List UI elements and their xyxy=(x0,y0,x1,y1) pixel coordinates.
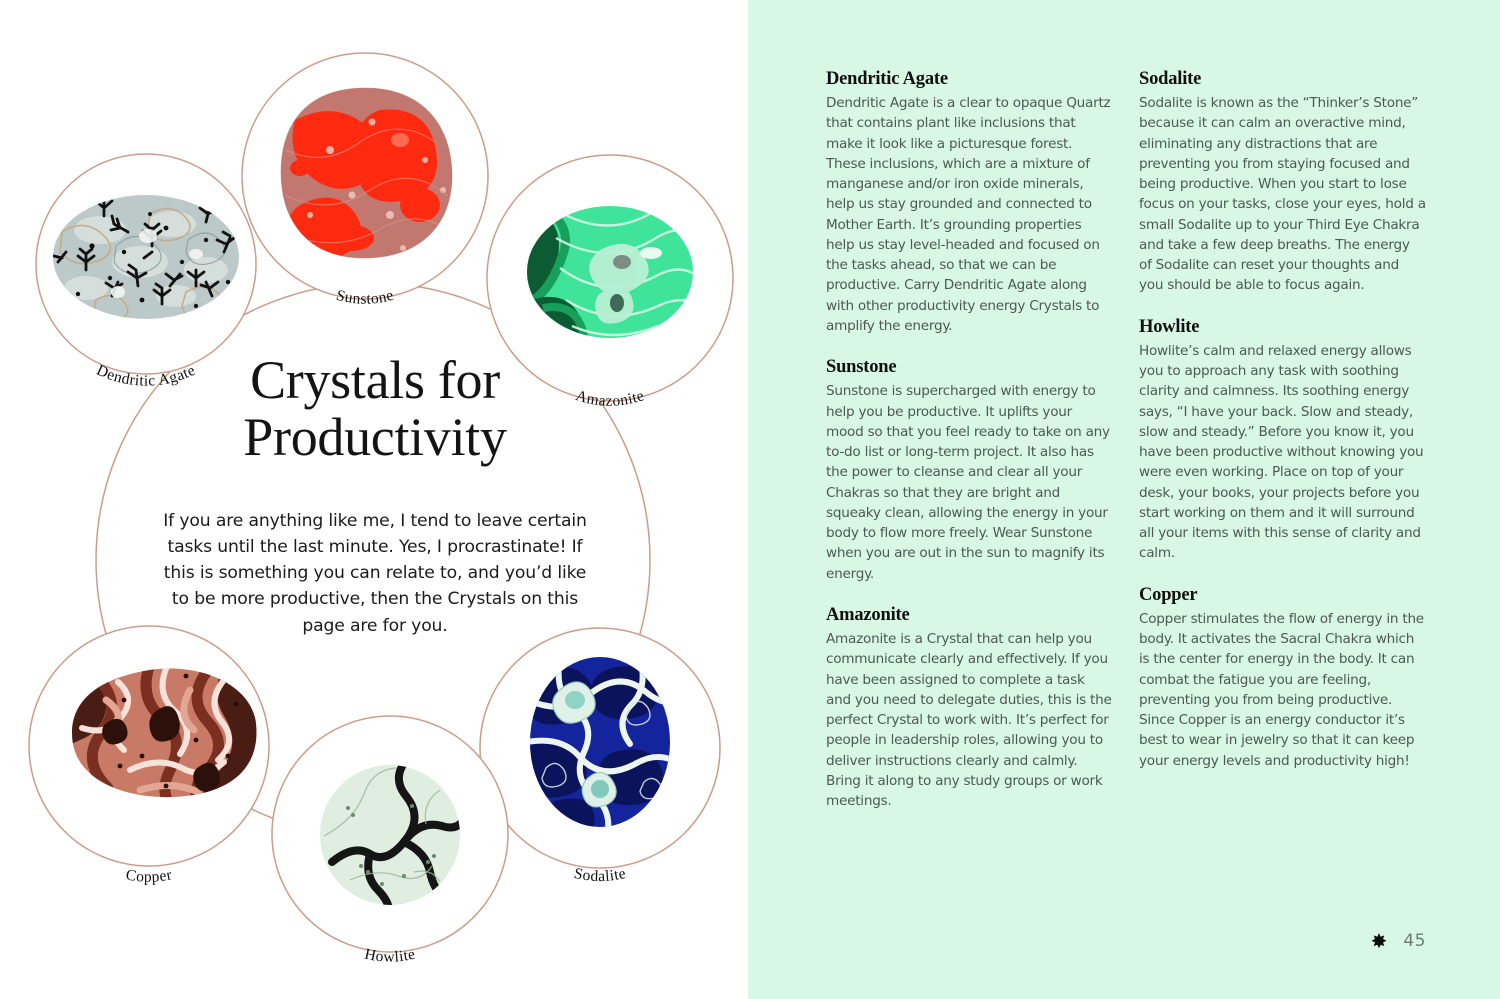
section-body: Copper stimulates the flow of energy in … xyxy=(1139,609,1426,771)
section-dendritic-agate: Dendritic Agate Dendritic Agate is a cle… xyxy=(826,68,1113,336)
section-body: Howlite’s calm and relaxed energy allows… xyxy=(1139,341,1426,564)
section-howlite: Howlite Howlite’s calm and relaxed energ… xyxy=(1139,316,1426,564)
intro-paragraph: If you are anything like me, I tend to l… xyxy=(155,508,595,639)
crystal-node-sunstone: Sunstone xyxy=(242,53,488,308)
left-page: Sunstone xyxy=(0,0,748,999)
section-heading: Sunstone xyxy=(826,356,1113,378)
crystal-node-howlite: Howlite xyxy=(272,716,508,966)
text-columns: Dendritic Agate Dendritic Agate is a cle… xyxy=(826,68,1426,811)
section-heading: Dendritic Agate xyxy=(826,68,1113,90)
section-body: Sodalite is known as the “Thinker’s Ston… xyxy=(1139,93,1426,296)
section-heading: Howlite xyxy=(1139,316,1426,338)
column-right: Sodalite Sodalite is known as the “Think… xyxy=(1139,68,1426,811)
crystal-node-amazonite: Amazonite xyxy=(487,155,733,410)
section-heading: Copper xyxy=(1139,584,1426,606)
right-page: Dendritic Agate Dendritic Agate is a cle… xyxy=(748,0,1500,999)
crystal-node-dendritic-agate: Dendritic Agate xyxy=(36,154,256,390)
section-heading: Amazonite xyxy=(826,604,1113,626)
eight-point-star-icon: ✸ xyxy=(1371,931,1388,951)
book-spread: Sunstone xyxy=(0,0,1500,999)
section-sodalite: Sodalite Sodalite is known as the “Think… xyxy=(1139,68,1426,296)
section-heading: Sodalite xyxy=(1139,68,1426,90)
section-body: Amazonite is a Crystal that can help you… xyxy=(826,629,1113,811)
section-body: Dendritic Agate is a clear to opaque Qua… xyxy=(826,93,1113,336)
crystal-label-copper: Copper xyxy=(124,866,174,886)
crystal-wheel-diagram: Sunstone xyxy=(0,0,748,999)
section-sunstone: Sunstone Sunstone is supercharged with e… xyxy=(826,356,1113,584)
page-number: 45 xyxy=(1403,931,1426,951)
crystal-node-sodalite: Sodalite xyxy=(480,628,720,885)
crystal-node-copper: Copper xyxy=(20,626,270,886)
page-footer: ✸ 45 xyxy=(1371,931,1426,951)
section-copper: Copper Copper stimulates the flow of ene… xyxy=(1139,584,1426,771)
section-amazonite: Amazonite Amazonite is a Crystal that ca… xyxy=(826,604,1113,811)
column-left: Dendritic Agate Dendritic Agate is a cle… xyxy=(826,68,1113,811)
section-body: Sunstone is supercharged with energy to … xyxy=(826,381,1113,584)
